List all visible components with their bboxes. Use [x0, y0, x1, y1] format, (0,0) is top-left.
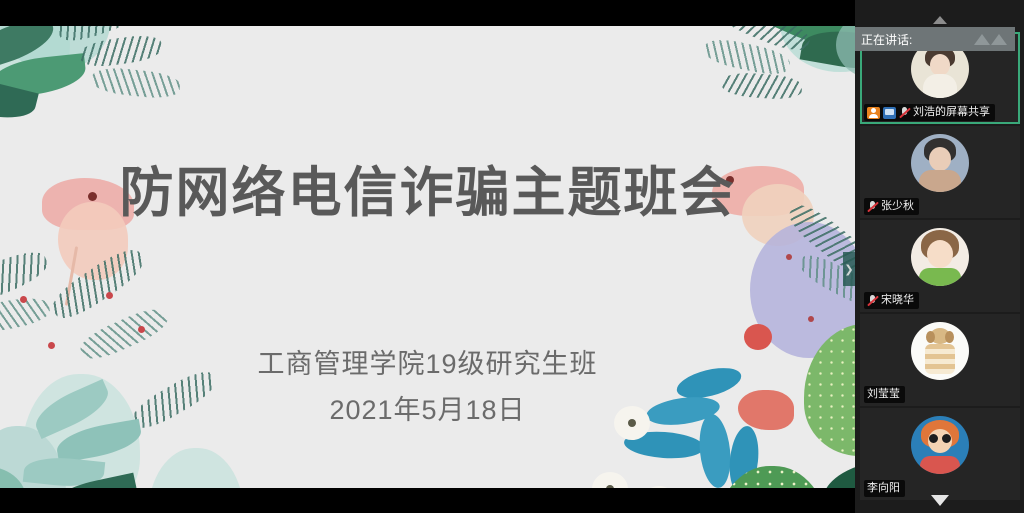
chevron-down-icon — [931, 495, 949, 506]
participant-name: 宋晓华 — [881, 293, 914, 308]
mic-muted-icon — [867, 294, 878, 307]
participant-label: 宋晓华 — [864, 292, 919, 309]
active-speaker-label: 正在讲话: — [861, 31, 912, 48]
participant-name: 刘莹莹 — [867, 387, 900, 402]
chevron-up-icon — [933, 16, 947, 24]
participant-tile[interactable]: 宋晓华 — [860, 220, 1020, 312]
participant-label: 张少秋 — [864, 198, 919, 215]
active-speaker-banner: 正在讲话: — [855, 27, 1015, 51]
letterbox-bottom — [0, 488, 855, 513]
share-icon — [883, 107, 896, 119]
mic-muted-icon — [899, 106, 910, 119]
participant-name: 张少秋 — [881, 199, 914, 214]
slide-date: 2021年5月18日 — [0, 388, 855, 427]
participant-label: 刘莹莹 — [864, 386, 905, 403]
avatar — [911, 228, 969, 286]
rail-scroll-up-button[interactable] — [855, 14, 1024, 26]
participant-name: 刘浩的屏幕共享 — [913, 105, 990, 120]
participant-tile[interactable]: 张少秋 — [860, 126, 1020, 218]
chevron-right-icon: ❯ — [844, 263, 853, 276]
avatar — [911, 322, 969, 380]
avatar — [911, 134, 969, 192]
letterbox-top — [0, 0, 855, 26]
speaking-waveform-icon — [974, 34, 1007, 45]
meeting-window: 防网络电信诈骗主题班会 工商管理学院19级研究生班 2021年5月18日 ❯ 正… — [0, 0, 1024, 513]
participant-tile[interactable]: 刘莹莹 — [860, 314, 1020, 406]
participant-tile[interactable]: 李向阳 — [860, 408, 1020, 500]
rail-scroll-down-button[interactable] — [855, 492, 1024, 508]
mic-muted-icon — [867, 200, 878, 213]
host-icon — [867, 107, 880, 119]
slide-title: 防网络电信诈骗主题班会 — [0, 148, 855, 227]
collapse-panel-button[interactable]: ❯ — [843, 252, 855, 286]
participant-rail: 正在讲话: 刘浩的屏幕共享 — [855, 0, 1024, 513]
slide-subtitle: 工商管理学院19级研究生班 — [0, 342, 855, 381]
presentation-slide: 防网络电信诈骗主题班会 工商管理学院19级研究生班 2021年5月18日 — [0, 26, 855, 488]
avatar — [911, 416, 969, 474]
participant-label: 刘浩的屏幕共享 — [864, 104, 995, 121]
screen-share-area: 防网络电信诈骗主题班会 工商管理学院19级研究生班 2021年5月18日 ❯ — [0, 0, 855, 513]
